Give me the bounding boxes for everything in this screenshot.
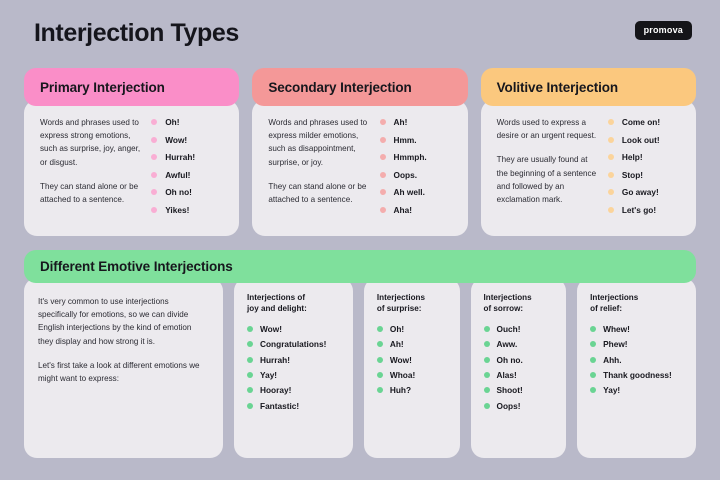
example-label: Yikes!: [165, 205, 189, 215]
example-item: Hmmph.: [380, 152, 454, 162]
example-label: Ah!: [394, 117, 408, 127]
emotion-card-relief: Interjections of relief: Whew! Phew! Ahh…: [577, 278, 696, 458]
example-item: Hmm.: [380, 135, 454, 145]
bullet-dot-icon: [590, 372, 596, 378]
bullet-dot-icon: [151, 137, 157, 143]
emotion-item: Wow!: [377, 355, 450, 365]
emotion-label: Phew!: [603, 339, 627, 349]
interjection-types-row: Primary Interjection Words and phrases u…: [24, 68, 696, 236]
bullet-dot-icon: [380, 137, 386, 143]
emotion-label: Shoot!: [497, 385, 523, 395]
emotion-item: Whew!: [590, 324, 686, 334]
emotions-row: It's very common to use interjections sp…: [24, 278, 696, 458]
type-paragraph: Words and phrases used to express strong…: [40, 116, 143, 169]
type-examples-primary: Oh! Wow! Hurrah! Awful! Oh no! Yikes!: [151, 116, 225, 222]
emotion-label: Yay!: [603, 385, 620, 395]
emotion-card-sorrow: Interjections of sorrow: Ouch! Aww. Oh n…: [471, 278, 567, 458]
page-title: Interjection Types: [34, 18, 239, 48]
example-label: Go away!: [622, 187, 659, 197]
example-item: Look out!: [608, 135, 682, 145]
emotion-label: Whew!: [603, 324, 630, 334]
emotion-item: Thank goodness!: [590, 370, 686, 380]
emotion-label: Whoa!: [390, 370, 415, 380]
emotion-card-title: Interjections of surprise:: [377, 292, 450, 315]
emotion-item: Ah!: [377, 339, 450, 349]
bullet-dot-icon: [247, 403, 253, 409]
bullet-dot-icon: [484, 326, 490, 332]
bullet-dot-icon: [377, 372, 383, 378]
emotion-label: Oops!: [497, 401, 521, 411]
bullet-dot-icon: [151, 189, 157, 195]
example-item: Awful!: [151, 170, 225, 180]
type-description-primary: Words and phrases used to express strong…: [40, 116, 143, 222]
type-column-volitive: Volitive Interjection Words used to expr…: [481, 68, 696, 236]
emotion-card-title: Interjections of sorrow:: [484, 292, 557, 315]
example-item: Yikes!: [151, 205, 225, 215]
bullet-dot-icon: [151, 207, 157, 213]
type-column-primary: Primary Interjection Words and phrases u…: [24, 68, 239, 236]
bullet-dot-icon: [590, 341, 596, 347]
emotion-label: Hurrah!: [260, 355, 290, 365]
emotion-item: Alas!: [484, 370, 557, 380]
type-paragraph: Words used to express a desire or an urg…: [497, 116, 600, 142]
emotion-item: Oh no.: [484, 355, 557, 365]
emotion-list: Ouch! Aww. Oh no. Alas! Shoot! Oops!: [484, 324, 557, 411]
emotion-label: Oh!: [390, 324, 404, 334]
emotion-card-title: Interjections of joy and delight:: [247, 292, 343, 315]
type-paragraph: They can stand alone or be attached to a…: [40, 180, 143, 206]
emotive-interjections-banner: Different Emotive Interjections: [24, 250, 696, 283]
type-body-primary: Words and phrases used to express strong…: [24, 100, 239, 236]
type-header-secondary: Secondary Interjection: [252, 68, 467, 106]
bullet-dot-icon: [484, 341, 490, 347]
emotion-item: Ahh.: [590, 355, 686, 365]
emotion-label: Thank goodness!: [603, 370, 672, 380]
emotion-label: Hooray!: [260, 385, 291, 395]
type-header-volitive: Volitive Interjection: [481, 68, 696, 106]
example-item: Hurrah!: [151, 152, 225, 162]
bullet-dot-icon: [151, 119, 157, 125]
bullet-dot-icon: [590, 387, 596, 393]
emotion-item: Hurrah!: [247, 355, 343, 365]
type-body-secondary: Words and phrases used to express milder…: [252, 100, 467, 236]
emotion-label: Wow!: [260, 324, 282, 334]
bullet-dot-icon: [608, 189, 614, 195]
bullet-dot-icon: [608, 154, 614, 160]
type-paragraph: They are usually found at the beginning …: [497, 153, 600, 206]
bullet-dot-icon: [247, 326, 253, 332]
emotion-card-surprise: Interjections of surprise: Oh! Ah! Wow! …: [364, 278, 460, 458]
example-label: Let's go!: [622, 205, 656, 215]
bullet-dot-icon: [380, 207, 386, 213]
bullet-dot-icon: [484, 387, 490, 393]
bullet-dot-icon: [590, 326, 596, 332]
intro-paragraph: Let's first take a look at different emo…: [38, 359, 207, 385]
bullet-dot-icon: [380, 172, 386, 178]
intro-paragraph: It's very common to use interjections sp…: [38, 295, 207, 348]
example-label: Oh no!: [165, 187, 192, 197]
example-item: Oh no!: [151, 187, 225, 197]
example-item: Ah!: [380, 117, 454, 127]
emotion-label: Yay!: [260, 370, 277, 380]
bullet-dot-icon: [380, 119, 386, 125]
bullet-dot-icon: [377, 387, 383, 393]
example-label: Ah well.: [394, 187, 425, 197]
emotion-item: Yay!: [247, 370, 343, 380]
type-description-volitive: Words used to express a desire or an urg…: [497, 116, 600, 222]
type-body-volitive: Words used to express a desire or an urg…: [481, 100, 696, 236]
emotion-label: Aww.: [497, 339, 518, 349]
emotion-label: Ahh.: [603, 355, 621, 365]
emotion-item: Yay!: [590, 385, 686, 395]
emotion-item: Oops!: [484, 401, 557, 411]
emotion-item: Shoot!: [484, 385, 557, 395]
emotion-label: Alas!: [497, 370, 517, 380]
emotion-label: Huh?: [390, 385, 411, 395]
bullet-dot-icon: [247, 341, 253, 347]
emotion-item: Hooray!: [247, 385, 343, 395]
example-item: Oops.: [380, 170, 454, 180]
bullet-dot-icon: [484, 357, 490, 363]
emotion-card-title: Interjections of relief:: [590, 292, 686, 315]
bullet-dot-icon: [380, 154, 386, 160]
emotion-item: Phew!: [590, 339, 686, 349]
type-description-secondary: Words and phrases used to express milder…: [268, 116, 371, 222]
bullet-dot-icon: [590, 357, 596, 363]
example-label: Hmmph.: [394, 152, 427, 162]
example-item: Let's go!: [608, 205, 682, 215]
type-paragraph: They can stand alone or be attached to a…: [268, 180, 371, 206]
type-paragraph: Words and phrases used to express milder…: [268, 116, 371, 169]
infographic-poster: Interjection Types promova Primary Inter…: [0, 0, 720, 480]
bullet-dot-icon: [608, 119, 614, 125]
emotion-item: Whoa!: [377, 370, 450, 380]
emotion-label: Ouch!: [497, 324, 521, 334]
emotion-item: Aww.: [484, 339, 557, 349]
example-item: Stop!: [608, 170, 682, 180]
bullet-dot-icon: [151, 154, 157, 160]
type-examples-volitive: Come on! Look out! Help! Stop! Go away! …: [608, 116, 682, 222]
example-item: Wow!: [151, 135, 225, 145]
type-column-secondary: Secondary Interjection Words and phrases…: [252, 68, 467, 236]
top-bar: Interjection Types promova: [24, 18, 696, 58]
promova-logo: promova: [635, 21, 692, 40]
example-item: Come on!: [608, 117, 682, 127]
emotion-list: Whew! Phew! Ahh. Thank goodness! Yay!: [590, 324, 686, 396]
bullet-dot-icon: [608, 137, 614, 143]
emotion-list: Oh! Ah! Wow! Whoa! Huh?: [377, 324, 450, 396]
emotion-card-joy: Interjections of joy and delight: Wow! C…: [234, 278, 353, 458]
example-label: Oops.: [394, 170, 418, 180]
bullet-dot-icon: [484, 403, 490, 409]
example-label: Help!: [622, 152, 643, 162]
bullet-dot-icon: [151, 172, 157, 178]
emotion-list: Wow! Congratulations! Hurrah! Yay! Hoora…: [247, 324, 343, 411]
example-label: Come on!: [622, 117, 660, 127]
bullet-dot-icon: [377, 357, 383, 363]
intro-card: It's very common to use interjections sp…: [24, 278, 223, 458]
bullet-dot-icon: [484, 372, 490, 378]
bullet-dot-icon: [377, 326, 383, 332]
bullet-dot-icon: [247, 357, 253, 363]
example-label: Wow!: [165, 135, 187, 145]
example-item: Oh!: [151, 117, 225, 127]
example-item: Help!: [608, 152, 682, 162]
bullet-dot-icon: [247, 372, 253, 378]
example-item: Aha!: [380, 205, 454, 215]
bullet-dot-icon: [608, 207, 614, 213]
example-label: Hurrah!: [165, 152, 195, 162]
bullet-dot-icon: [380, 189, 386, 195]
example-label: Look out!: [622, 135, 660, 145]
emotion-item: Oh!: [377, 324, 450, 334]
bullet-dot-icon: [608, 172, 614, 178]
emotion-item: Ouch!: [484, 324, 557, 334]
emotion-item: Wow!: [247, 324, 343, 334]
emotion-label: Wow!: [390, 355, 412, 365]
emotion-item: Huh?: [377, 385, 450, 395]
example-label: Hmm.: [394, 135, 417, 145]
emotion-item: Congratulations!: [247, 339, 343, 349]
example-item: Go away!: [608, 187, 682, 197]
emotion-label: Congratulations!: [260, 339, 326, 349]
example-label: Aha!: [394, 205, 412, 215]
emotion-label: Fantastic!: [260, 401, 299, 411]
example-item: Ah well.: [380, 187, 454, 197]
emotion-label: Oh no.: [497, 355, 523, 365]
example-label: Stop!: [622, 170, 643, 180]
emotion-label: Ah!: [390, 339, 404, 349]
example-label: Awful!: [165, 170, 190, 180]
type-header-primary: Primary Interjection: [24, 68, 239, 106]
bullet-dot-icon: [247, 387, 253, 393]
example-label: Oh!: [165, 117, 179, 127]
type-examples-secondary: Ah! Hmm. Hmmph. Oops. Ah well. Aha!: [380, 116, 454, 222]
emotion-item: Fantastic!: [247, 401, 343, 411]
bullet-dot-icon: [377, 341, 383, 347]
